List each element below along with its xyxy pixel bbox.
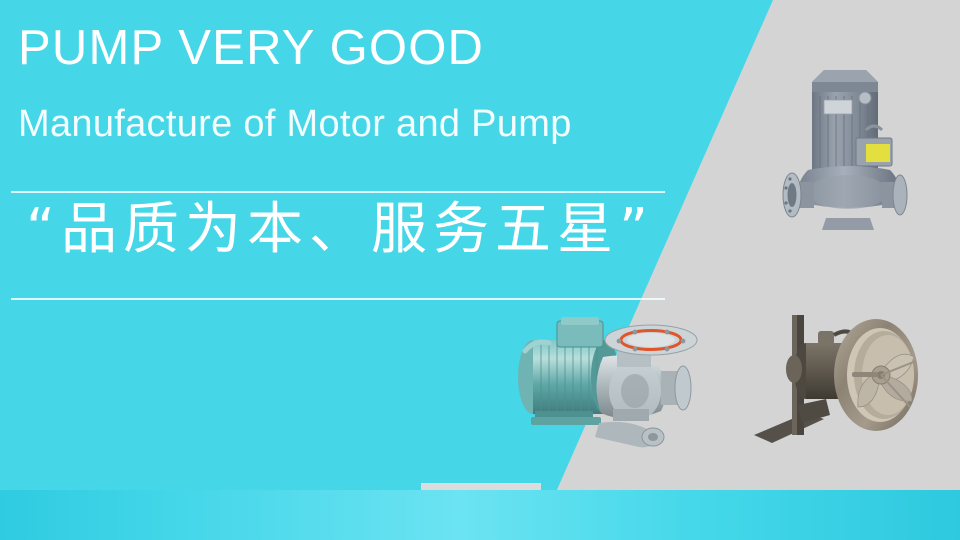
divider-bottom <box>11 298 665 300</box>
bottom-color-band <box>0 490 960 540</box>
product-image-vertical-inline-pipeline-pump <box>770 42 940 242</box>
page-title: PUMP VERY GOOD <box>18 24 484 73</box>
page-subtitle: Manufacture of Motor and Pump <box>18 105 572 143</box>
headline-block: PUMP VERY GOOD Manufacture of Motor and … <box>0 0 720 492</box>
product-image-submersible-mixer <box>748 295 938 460</box>
promo-banner: PUMP VERY GOOD Manufacture of Motor and … <box>0 0 960 540</box>
slogan-chinese: “品质为本、服务五星” <box>26 200 654 260</box>
divider-top <box>11 191 665 193</box>
